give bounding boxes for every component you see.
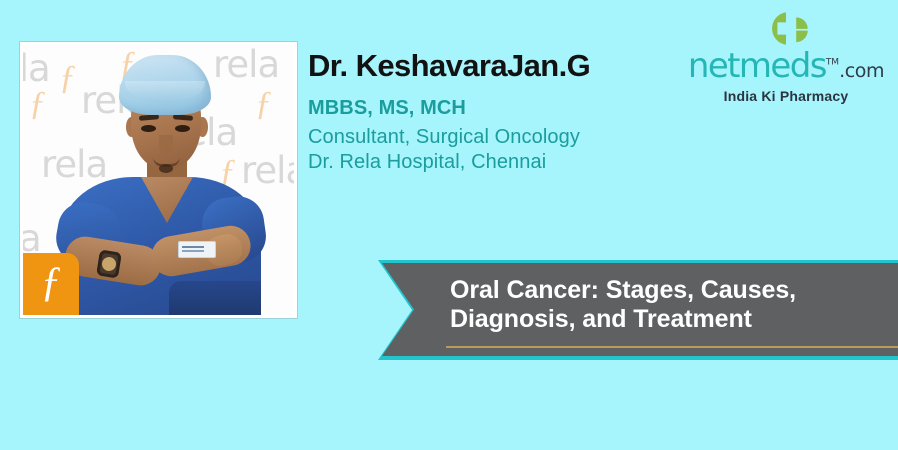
nose [159, 135, 173, 153]
doctor-photo-card: ela rela rela rela rela rela a ƒ ƒ ƒ ƒ ƒ… [20, 42, 297, 318]
eye-left [141, 125, 156, 132]
rela-logo-badge: ƒ [23, 253, 79, 315]
doctor-info-block: Dr. KeshavaraJan.G MBBS, MS, MCH Consult… [308, 50, 708, 176]
dotcom-suffix: .com [839, 60, 884, 82]
netmeds-logo[interactable]: netmedsTM.com India Ki Pharmacy [686, 10, 886, 104]
doctor-qualifications: MBBS, MS, MCH [308, 97, 708, 120]
eye-right [175, 125, 190, 132]
doctor-hospital: Dr. Rela Hospital, Chennai [308, 150, 708, 176]
surgical-cap [119, 55, 211, 115]
id-badge [178, 241, 216, 258]
netmeds-tagline: India Ki Pharmacy [686, 88, 886, 104]
doctor-name: Dr. KeshavaraJan.G [308, 50, 708, 83]
doctor-photo: ela rela rela rela rela rela a ƒ ƒ ƒ ƒ ƒ… [23, 45, 294, 315]
goatee [159, 164, 173, 173]
article-title-line-1: Oral Cancer: Stages, Causes, [450, 276, 888, 305]
ribbon-gold-rule [446, 346, 898, 348]
netmeds-capsule-plus-icon [756, 10, 816, 47]
scrub-shadow [169, 281, 261, 315]
netmeds-wordmark: netmedsTM.com [686, 49, 886, 83]
netmeds-word: netmeds [688, 46, 826, 86]
article-title: Oral Cancer: Stages, Causes, Diagnosis, … [450, 276, 888, 335]
trademark-symbol: TM [826, 58, 839, 68]
article-title-line-2: Diagnosis, and Treatment [450, 305, 888, 334]
banner-canvas: ela rela rela rela rela rela a ƒ ƒ ƒ ƒ ƒ… [0, 0, 898, 450]
doctor-role: Consultant, Surgical Oncology [308, 125, 708, 151]
article-title-ribbon: Oral Cancer: Stages, Causes, Diagnosis, … [378, 260, 898, 360]
wristwatch [96, 249, 122, 278]
rela-flame-icon: ƒ [41, 261, 62, 303]
